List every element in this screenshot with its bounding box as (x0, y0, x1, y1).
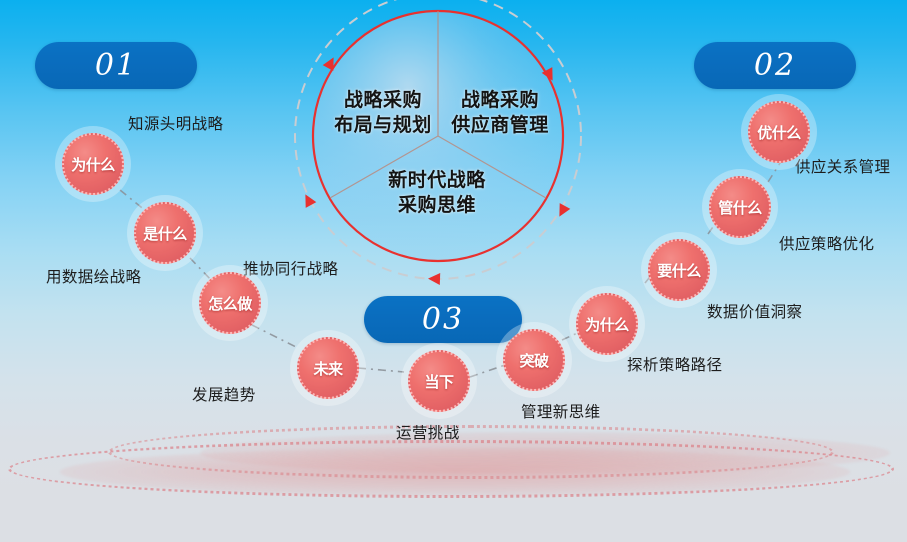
bubble-s3-present[interactable]: 当下 (408, 350, 470, 412)
wheel-segment-right-line2: 供应商管理 (430, 113, 570, 138)
stage-ellipse-fill-front (60, 448, 850, 496)
section-badge-02[interactable]: 02 (694, 42, 856, 89)
stage-ellipse-dotted-front (8, 440, 894, 498)
wheel-segment-right: 战略采购 供应商管理 (430, 88, 570, 138)
bubble-s2-optimize[interactable]: 优什么 (748, 101, 810, 163)
bubble-s1-how[interactable]: 怎么做 (199, 272, 261, 334)
wheel-segment-right-line1: 战略采购 (430, 88, 570, 113)
stage-ellipse-dotted-back (108, 425, 834, 479)
section-badge-01[interactable]: 01 (35, 42, 197, 89)
wheel-segment-left: 战略采购 布局与规划 (318, 88, 448, 138)
bubble-s1-what[interactable]: 是什么 (134, 202, 196, 264)
bubble-s2-why[interactable]: 为什么 (576, 293, 638, 355)
caption-s2-optimize: 供应关系管理 (795, 155, 890, 177)
section-badge-03[interactable]: 03 (364, 296, 522, 343)
wheel-segment-bottom-line1: 新时代战略 (357, 168, 517, 193)
caption-s2-manage: 供应策略优化 (779, 232, 874, 254)
caption-s1-why: 知源头明战略 (128, 112, 223, 134)
caption-s2-why: 探析策略路径 (627, 353, 722, 375)
wheel-segment-left-line1: 战略采购 (318, 88, 448, 113)
bubble-s2-need[interactable]: 要什么 (648, 239, 710, 301)
infographic-canvas: 战略采购 布局与规划 战略采购 供应商管理 新时代战略 采购思维 01 02 0… (0, 0, 907, 542)
caption-s3-breakthrough: 管理新思维 (521, 400, 601, 422)
bubble-s3-breakthrough[interactable]: 突破 (503, 329, 565, 391)
bubble-s2-manage[interactable]: 管什么 (709, 176, 771, 238)
stage-ellipse-fill-back (200, 432, 890, 474)
wheel-segment-bottom: 新时代战略 采购思维 (357, 168, 517, 218)
center-wheel (288, 0, 588, 288)
wheel-segment-left-line2: 布局与规划 (318, 113, 448, 138)
bubble-s1-why[interactable]: 为什么 (62, 133, 124, 195)
caption-s3-future: 发展趋势 (192, 383, 256, 405)
caption-s3-present: 运营挑战 (396, 421, 460, 443)
caption-s1-what: 用数据绘战略 (46, 265, 141, 287)
wheel-segment-bottom-line2: 采购思维 (357, 193, 517, 218)
bubble-s3-future[interactable]: 未来 (297, 337, 359, 399)
caption-s2-need: 数据价值洞察 (707, 300, 802, 322)
